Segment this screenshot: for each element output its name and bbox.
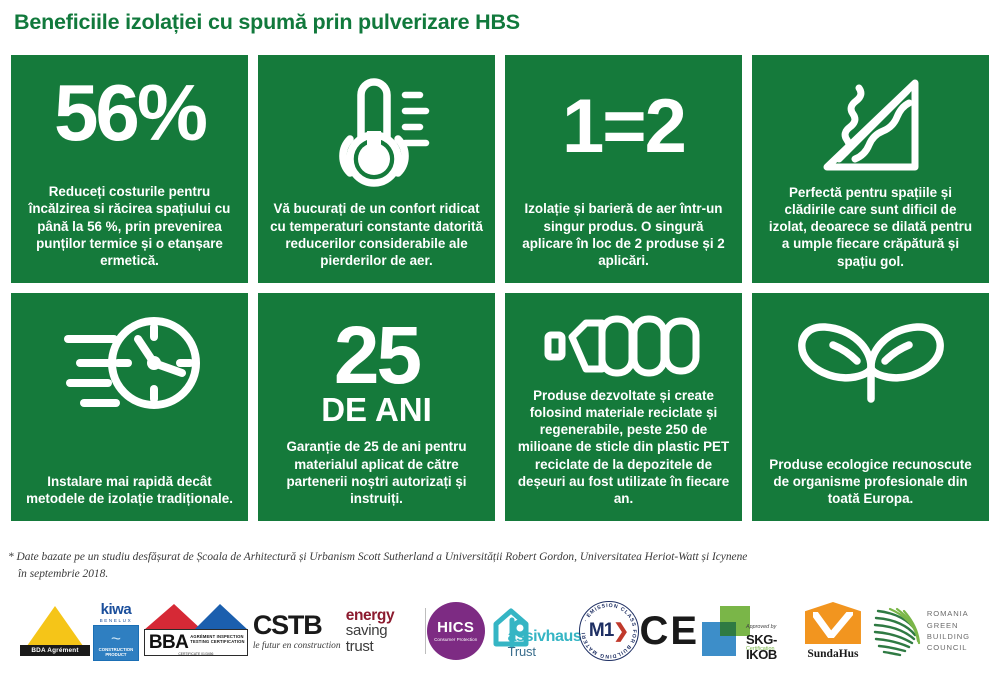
- expanding-foam-corner-icon: [815, 73, 927, 184]
- infographic-page: Beneficiile izolației cu spumă prin pulv…: [0, 0, 1000, 674]
- card-description: Garanție de 25 de ani pentru materialul …: [268, 438, 485, 511]
- big-number-1-equals-2: 1=2: [562, 63, 685, 163]
- logo-line-2: Trust: [508, 644, 536, 659]
- logo-subtitle: Approved by: [746, 624, 776, 630]
- logo-ce: CE: [640, 600, 700, 662]
- logo-caption: CERTIFICATE 01/3456: [145, 652, 247, 656]
- big-number-25: 25: [321, 301, 432, 395]
- logo-bba: BBA AGRÉMENT INSPECTION TESTING CERTIFIC…: [140, 600, 252, 662]
- logo-caption: Certification: [746, 646, 774, 652]
- logo-line-3: BUILDING: [927, 631, 970, 642]
- benefit-card-comfort: Vă bucurați de un confort ridicat cu tem…: [258, 55, 495, 283]
- swan-icon: ~: [94, 630, 138, 647]
- logo-passivhaus-trust: assivhaus Trust: [486, 600, 578, 662]
- logo-skg-ikob: Approved by SKG-IKOB Certification: [700, 600, 796, 662]
- benefit-card-hard-to-insulate: Perfectă pentru spațiile și clădirile ca…: [752, 55, 989, 283]
- footnote-line-2: în septembrie 2018.: [8, 566, 992, 583]
- card-visual: [762, 301, 979, 414]
- card-visual: [21, 301, 238, 420]
- logo-wordmark: HICS: [437, 619, 474, 636]
- certification-logos: BDA Agrément kiwa BENELUX ~ CONSTRUCTION…: [18, 596, 982, 666]
- logo-sundahus: SundaHus: [797, 600, 869, 662]
- logo-wordmark: CSTB: [253, 612, 345, 639]
- logo-line-4: COUNCIL: [927, 642, 970, 653]
- card-visual: [762, 63, 979, 184]
- logo-line-1: ROMANIA: [927, 608, 970, 619]
- checkmark-icon: [813, 612, 853, 638]
- benefit-card-one-equals-two: 1=2 Izolație și barieră de aer într-un s…: [505, 55, 742, 283]
- fan-leaf-icon: [870, 605, 922, 657]
- card-description: Izolație și barieră de aer într-un singu…: [515, 200, 732, 273]
- logo-cstb: CSTB le futur en construction: [253, 600, 345, 662]
- two-leaves-icon: [789, 311, 953, 414]
- benefit-card-eco-certified: Produse ecologice recunoscute de organis…: [752, 293, 989, 521]
- logo-wordmark: CE: [640, 609, 700, 654]
- card-visual: [268, 63, 485, 196]
- fast-clock-icon: [54, 311, 206, 420]
- benefit-card-recycled-pet: Produse dezvoltate și create folosind ma…: [505, 293, 742, 521]
- logo-subtitle: BENELUX: [93, 618, 139, 623]
- card-visual: 56%: [21, 63, 238, 151]
- footnote: * Date bazate pe un studiu desfășurat de…: [8, 549, 992, 582]
- footnote-line-1: * Date bazate pe un studiu desfășurat de…: [8, 551, 747, 563]
- benefit-card-25-years: 25 DE ANI Garanție de 25 de ani pentru m…: [258, 293, 495, 521]
- card-description: Produse ecologice recunoscute de organis…: [762, 456, 979, 511]
- dark-square-shape: [720, 622, 736, 636]
- logo-text-block: ROMANIA GREEN BUILDING COUNCIL: [927, 608, 970, 654]
- plastic-bottle-icon: [542, 311, 706, 386]
- card-description: Reduceți costurile pentru încălzirea si …: [21, 183, 238, 273]
- logo-line-3: trust: [346, 639, 419, 655]
- logo-energy-saving-trust: energy saving trust: [346, 600, 426, 662]
- roof-right-shape: [194, 604, 248, 630]
- page-title: Beneficiile izolației cu spumă prin pulv…: [14, 10, 520, 35]
- card-description: Produse dezvoltate și create folosind ma…: [515, 387, 732, 511]
- logo-subtitle: le futur en construction: [253, 641, 345, 651]
- logo-caption: CONSTRUCTION PRODUCT: [94, 648, 138, 660]
- card-visual: 25 DE ANI: [268, 301, 485, 426]
- card-visual: 1=2: [515, 63, 732, 163]
- card-description: Instalare mai rapidă decât metodele de i…: [21, 473, 238, 511]
- logo-wordmark: kiwa: [93, 602, 139, 617]
- logo-m1: · EMISSION CLASS FOR BUILDING MATERIAL ·…: [579, 600, 639, 662]
- logo-line-2: GREEN: [927, 620, 970, 631]
- logo-line-1: energy: [346, 608, 419, 624]
- thermometer-icon: [319, 73, 435, 196]
- logo-wordmark: SundaHus: [797, 648, 869, 660]
- logo-romania-green-building-council: ROMANIA GREEN BUILDING COUNCIL: [870, 600, 982, 662]
- logo-caption: BDA Agrément: [20, 645, 90, 656]
- logo-bda-agrement: BDA Agrément: [18, 600, 92, 662]
- card-visual: [515, 301, 732, 386]
- logo-kiwa: kiwa BENELUX ~ CONSTRUCTION PRODUCT: [93, 600, 139, 662]
- logo-wordmark: M1❯: [579, 601, 639, 661]
- big-number-sublabel: DE ANI: [321, 393, 432, 426]
- benefit-card-56-percent: 56% Reduceți costurile pentru încălzirea…: [11, 55, 248, 283]
- logo-subtitle: Consumer Protection: [434, 637, 477, 643]
- card-description: Vă bucurați de un confort ridicat cu tem…: [268, 200, 485, 273]
- logo-line-2: saving: [346, 623, 419, 639]
- card-description: Perfectă pentru spațiile și clădirile ca…: [762, 184, 979, 274]
- big-number-56: 56%: [54, 63, 205, 151]
- logo-hics: HICS Consumer Protection: [427, 600, 485, 662]
- benefit-card-faster-install: Instalare mai rapidă decât metodele de i…: [11, 293, 248, 521]
- benefits-grid: 56% Reduceți costurile pentru încălzirea…: [11, 55, 989, 521]
